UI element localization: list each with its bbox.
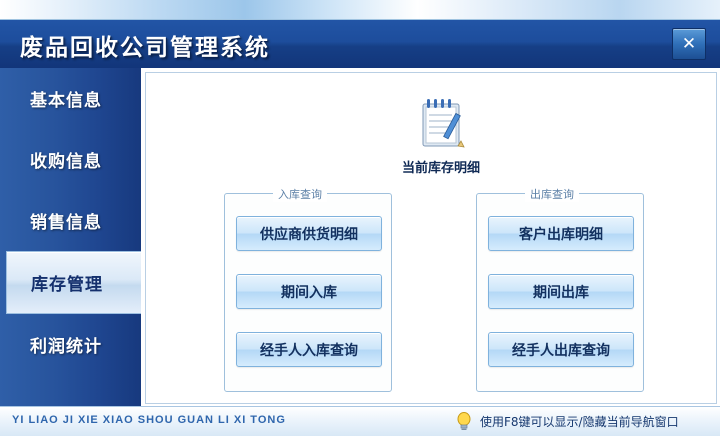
sidebar-item-label: 收购信息 <box>0 147 102 172</box>
sidebar-item-inventory-management[interactable]: 库存管理 <box>6 251 141 314</box>
outbound-query-group-title: 出库查询 <box>525 186 579 202</box>
decorative-top-strip <box>0 0 720 20</box>
sidebar-item-basic-info[interactable]: 基本信息 <box>0 68 141 129</box>
notebook-icon <box>414 95 468 151</box>
title-bar: 废品回收公司管理系统 ✕ <box>0 20 720 69</box>
sidebar-navigation: 基本信息 收购信息 销售信息 库存管理 利润统计 <box>0 68 142 406</box>
sidebar-item-label: 销售信息 <box>0 208 102 233</box>
content-panel: 当前库存明细 入库查询 供应商供货明细 期间入库 经手人入库查询 出库查询 客户… <box>145 72 717 404</box>
sidebar-item-label: 利润统计 <box>0 332 102 357</box>
current-inventory-detail-label: 当前库存明细 <box>381 157 501 176</box>
outbound-query-group: 出库查询 客户出库明细 期间出库 经手人出库查询 <box>476 193 644 392</box>
sidebar-item-sales-info[interactable]: 销售信息 <box>0 190 141 251</box>
inbound-query-group: 入库查询 供应商供货明细 期间入库 经手人入库查询 <box>224 193 392 392</box>
current-inventory-detail-entry[interactable]: 当前库存明细 <box>381 95 501 176</box>
main-content: 当前库存明细 入库查询 供应商供货明细 期间入库 经手人入库查询 出库查询 客户… <box>141 68 720 406</box>
period-inbound-button[interactable]: 期间入库 <box>236 274 382 309</box>
sidebar-item-label: 库存管理 <box>7 270 103 295</box>
handler-inbound-query-button[interactable]: 经手人入库查询 <box>236 332 382 367</box>
period-outbound-button[interactable]: 期间出库 <box>488 274 634 309</box>
close-icon: ✕ <box>673 29 705 59</box>
footer-pinyin-text: YI LIAO JI XIE XIAO SHOU GUAN LI XI TONG <box>12 414 286 426</box>
footer-hint-text: 使用F8键可以显示/隐藏当前导航窗口 <box>480 413 679 430</box>
page-title: 废品回收公司管理系统 <box>20 28 270 62</box>
close-button[interactable]: ✕ <box>672 28 706 60</box>
sidebar-item-purchase-info[interactable]: 收购信息 <box>0 129 141 190</box>
handler-outbound-query-button[interactable]: 经手人出库查询 <box>488 332 634 367</box>
customer-outbound-detail-button[interactable]: 客户出库明细 <box>488 216 634 251</box>
lightbulb-icon <box>455 411 473 431</box>
sidebar-item-label: 基本信息 <box>0 86 102 111</box>
sidebar-item-profit-statistics[interactable]: 利润统计 <box>0 314 141 375</box>
supplier-supply-detail-button[interactable]: 供应商供货明细 <box>236 216 382 251</box>
inbound-query-group-title: 入库查询 <box>273 186 327 202</box>
application-window: 废品回收公司管理系统 ✕ 基本信息 收购信息 销售信息 库存管理 利润统计 <box>0 0 720 435</box>
status-bar: YI LIAO JI XIE XIAO SHOU GUAN LI XI TONG… <box>0 406 720 436</box>
